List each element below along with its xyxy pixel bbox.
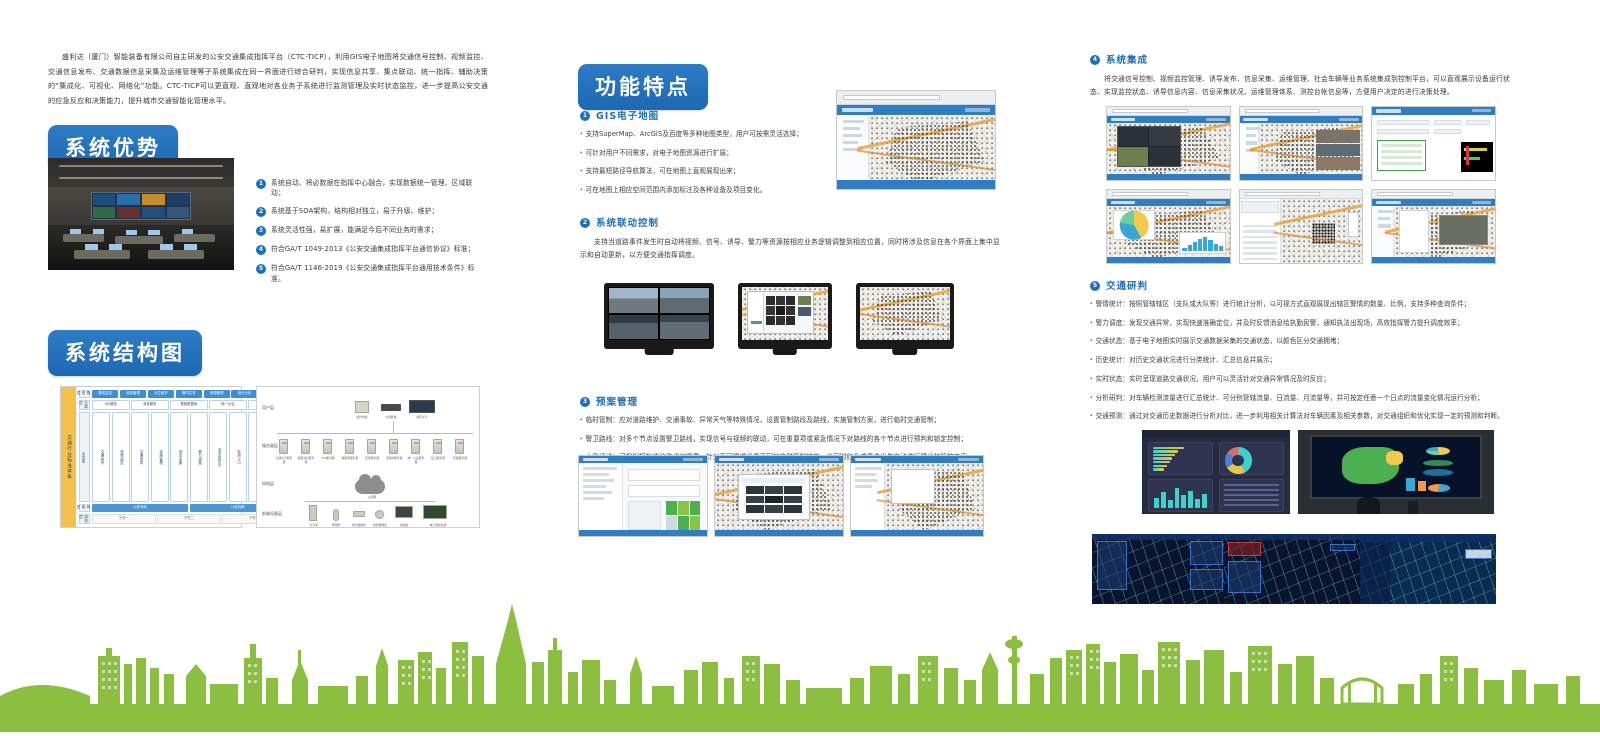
server-caption: 交通信号服务器 [275,456,293,464]
topology-diagram: 用户层 服务器层 网络层 前端设备层 操作终端 大屏终端 指挥大厅 交通信号服务… [256,386,480,528]
panel-data-table [1219,479,1284,513]
monitor-screen [860,287,950,340]
terminal-caption: 操作终端 [353,415,371,419]
console-icon [381,404,401,411]
analysis-bullet: 警情统计：按照管辖辖区（支队或大队等）进行统计分析，以可视方式直观展现出辖区警情… [1090,299,1522,309]
section-header: 5 交通研判 [1090,278,1522,292]
section-paragraph: 将交通信号控制、视频监控管理、诱导发布、信息采集、运维管理、社会车辆等业务系统集… [1090,73,1510,100]
integration-screenshot-grid [1106,106,1496,264]
server-caption: 应用服务器 [363,456,381,460]
feature-bullet: 临时管制：应对道路维护、交通事故、异常天气等特殊情况，设置管制路段及路线，实施管… [580,415,992,425]
plan-screenshot-3 [850,455,984,537]
monitor-intersection-control [738,283,832,349]
control-room-photo [48,158,234,270]
dashboard-navbar [1142,430,1290,438]
server-caption: 接口服务器 [429,456,447,460]
list-item: 4 符合GA/T 1049-2013《公安交通集成指挥平台通信协议》标准； [256,244,486,255]
integration-screenshot-6 [1371,189,1496,264]
feature-bullet: 可在地图上相应空间范围内添加标注及各种设备及项目变化。 [580,185,825,195]
arch-cell: 基础数据库 [170,400,208,410]
server-caption: 视频监控服务器 [297,456,315,464]
arch-row-support: 支撑层 GIS服务 消息服务 基础数据库 统一认证 日志审计 [79,400,286,410]
analysis-bullet: 交通状态：基于电子地图实时展示交通数据采集的交通状态，以颜色区分交通拥堵； [1090,336,1522,346]
feature-bullet: 支持最短路径导航算法，可在地图上直观展现出来； [580,166,825,176]
advantage-text: 系统基于SOA架构，结构相对独立，易于升级、维护； [271,206,438,217]
gis-map-screenshot [836,90,996,190]
analysis-bullet: 警力调度：发现交通异常，实现快速准确定位，并及时反馈消息给执勤民警，通知执法出现… [1090,318,1522,328]
section-title: GIS电子地图 [596,108,659,122]
analytics-dashboard [1142,430,1290,514]
arch-row-label: 支撑层 [79,400,90,410]
list-item: 5 符合GA/T 1146-2019《公安交通集成指挥平台通用技术条件》标准。 [256,263,486,283]
workstation-icon [355,401,369,413]
integration-screenshot-3 [1371,106,1496,181]
server-caption: 存储服务器 [451,456,469,460]
server-caption: 统一认证服务器 [407,456,425,464]
features-heading: 功能特点 [578,64,708,110]
arch-cell: 警力调度 [190,412,208,502]
map-markers [869,116,995,190]
section-header: 2 系统联动控制 [580,215,1000,229]
advantage-text: 系统自动、将必数据在指挥中心融合，实现数据统一管理、区域联动； [271,178,486,198]
analysis-bullet: 分析研判：对车辆检测流量进行汇总统计、可分别管辖流量、日流量、月流量等，并可按定… [1090,393,1522,403]
arch-cell: 检测卡口 [229,412,247,502]
arch-row-label: 感知层 [79,514,90,524]
vms-board-icon [395,506,413,518]
device-caption: 球型摄像机 [371,523,389,527]
arch-row-label: 业务层 [79,412,90,502]
panel-donut [1219,442,1284,476]
server-caption: 数据库服务器 [341,456,359,460]
brochure-page: 盛利达（厦门）智能装备有限公司自主研发的公安交通集成指挥平台（CTC-TICP）… [0,0,1600,732]
feature-bullet: 支持SuperMap、ArcGIS及百度等多种地图类型，用户可按需灵活选择； [580,129,825,139]
cabinet-icon [309,505,317,521]
arch-cell: 资源管理 [204,390,230,398]
traffic-command-dashboard-3 [1360,534,1496,604]
traffic-command-dashboard-1 [1092,534,1228,604]
enforcement-system-icon [423,505,447,519]
feature-section-linkage: 2 系统联动控制 支持当道路事件发生时自动将视频、信号、诱导、警力等资源按相应业… [580,215,1000,262]
device-caption: 信号机 [305,523,323,527]
architecture-diagram: 交通行业标准体系 展现层 集成监控 信息管理 点位维护 警内共享 资源管理 统计… [60,386,242,528]
plan-screenshot-2 [714,455,844,537]
arch-row-presentation: 展现层 集成监控 信息管理 点位维护 警内共享 资源管理 统计分析 权限管理 [79,390,286,398]
structure-heading-wrap: 系统结构图 [48,330,202,376]
monitor-map [856,283,954,349]
list-item: 2 系统基于SOA架构，结构相对独立，易于升级、维护； [256,206,486,217]
topology-layer-label: 前端设备层 [262,511,282,517]
bullet-camera-icon [353,511,365,517]
panel-vertical-bars [1148,479,1213,513]
section-header: 4 系统集成 [1090,52,1510,66]
analysis-bullet: 实时状态：实时呈现道路交通状况，用户可以灵活针对交通异常情况及时反应； [1090,374,1522,384]
integration-screenshot-4 [1106,189,1231,264]
section-title: 交通研判 [1106,278,1148,292]
city-skyline-footer [0,600,1600,732]
browser-chrome [837,91,995,105]
device-caption: 枪式摄像机 [350,523,368,527]
network-caption: 公安网 [361,495,383,499]
arch-cell: GIS服务 [92,400,130,410]
badge-number: 4 [1090,55,1100,65]
network-cloud-icon [355,479,385,494]
feature-section-gis: 1 GIS电子地图 支持SuperMap、ArcGIS及百度等多种地图类型，用户… [580,108,825,204]
section-header: 3 预案管理 [580,394,992,408]
monitor-cctv [604,283,714,349]
integration-screenshot-2 [1239,106,1364,181]
dome-camera-icon [375,510,384,519]
arch-cell: 子项一 [92,514,156,524]
integration-screenshot-1 [1106,106,1231,181]
section-paragraph: 支持当道路事件发生时自动将视频、信号、诱导、警力等资源按相应业务逻辑调整到相应位… [580,236,1000,262]
analysis-bullet: 历史统计：对历史交通状况进行分类统计、汇总信息并展示； [1090,355,1522,365]
topology-layer-label: 服务器层 [262,443,278,449]
terminal-caption: 指挥大厅 [413,415,431,419]
device-caption: 电子警察系统 [425,523,451,527]
left-column: 盛利达（厦门）智能装备有限公司自主研发的公安交通集成指挥平台（CTC-TICP）… [48,50,488,108]
advantages-list: 1 系统自动、将必数据在指挥中心融合，实现数据统一管理、区域联动； 2 系统基于… [256,178,486,292]
badge-number: 4 [256,245,266,255]
videowall-icon [409,400,435,413]
feature-bullet: 警卫路线：对多个节点设置警卫路线，实现信号与视频的联动，可在重要项或紧急情况下对… [580,434,992,444]
section-title: 系统联动控制 [596,215,659,229]
feature-bullet: 可针对用户不同需求，对电子地图资源进行扩展； [580,148,825,158]
device-caption: 情报板 [395,523,413,527]
list-item: 1 系统自动、将必数据在指挥中心融合，实现数据统一管理、区域联动； [256,178,486,198]
badge-number: 1 [580,111,590,121]
traffic-command-dashboard-2 [1224,534,1360,604]
arch-cell: 交通诱导 [131,412,149,502]
feature-section-analysis: 5 交通研判 警情统计：按照管辖辖区（支队或大队等）进行统计分析，以可视方式直观… [1090,278,1522,430]
arch-cell: 公安专网 [92,504,188,512]
terminal-caption: 大屏终端 [382,415,400,419]
badge-number: 5 [256,264,266,274]
features-heading-wrap: 功能特点 [578,64,708,110]
intro-paragraph: 盛利达（厦门）智能装备有限公司自主研发的公安交通集成指挥平台（CTC-TICP）… [48,50,488,108]
badge-number: 3 [256,226,266,236]
badge-number: 5 [1090,281,1100,291]
server-caption: GIS服务器 [319,456,337,460]
integration-screenshot-5 [1239,189,1364,264]
analysis-bullet: 交通预测：通过对交通历史数据进行分析对比，进一步利用相关计算法对车辆因素及相关参… [1090,411,1522,421]
badge-number: 2 [580,218,590,228]
advantage-text: 系统灵活性强，易扩展，能满足今后不同业务的需求； [271,225,438,236]
arch-cell: 点位维护 [148,390,174,398]
device-caption: 诱导屏 [327,523,345,527]
arch-side-label-left: 交通行业标准体系 [61,387,76,527]
arch-cell: 非现场执法 [209,412,227,502]
plan-screenshot-1 [578,455,708,537]
arch-cell: 交通信号 [92,412,110,502]
monitor-screen [742,287,828,340]
skyline-graphic [0,600,1600,732]
structure-heading: 系统结构图 [48,330,202,376]
arch-cell: 信息管理 [120,390,146,398]
arch-row-label: 展现层 [79,390,90,398]
arch-row-sensing: 感知层 子项一 子项二 子项三 [79,514,286,524]
arch-cell: 集成监控 [92,390,118,398]
arch-row-network: 网络层 公安专网 公安内网 [79,504,286,512]
arch-cell: 违法采集 [170,412,188,502]
video-wall [91,192,191,220]
list-item: 3 系统灵活性强，易扩展，能满足今后不同业务的需求； [256,225,486,236]
app-header-bar [837,105,995,116]
arch-cell: 设施管理 [151,412,169,502]
advantage-text: 符合GA/T 1049-2013《公安交通集成指挥平台通信协议》标准； [271,244,475,255]
bollard-icon [333,509,339,521]
feature-section-integration: 4 系统集成 将交通信号控制、视频监控管理、诱导发布、信息采集、运维管理、社会车… [1090,52,1510,100]
badge-number: 3 [580,397,590,407]
arch-row-label: 网络层 [79,504,90,512]
section-header: 1 GIS电子地图 [580,108,825,122]
arch-row-business: 业务层 交通信号 视频监控 交通诱导 设施管理 违法采集 警力调度 非现场执法 … [79,412,286,502]
arch-cell: 警内共享 [176,390,202,398]
topology-layer-label: 用户层 [262,405,274,411]
monitor-screen [608,287,710,340]
arch-cell: 视频监控 [112,412,130,502]
status-bar [837,180,995,189]
arch-cell: 统计分析 [231,390,257,398]
arch-cell: 子项二 [157,514,221,524]
advantage-text: 符合GA/T 1146-2019《公安交通集成指挥平台通用技术条件》标准。 [271,263,486,283]
badge-number: 2 [256,207,266,217]
server-caption: 流媒体服务器 [385,456,403,460]
arch-cell: 消息服务 [131,400,169,410]
command-center-photo [1298,430,1494,514]
topology-layer-label: 网络层 [262,481,274,487]
badge-number: 1 [256,179,266,189]
map-canvas [869,116,995,190]
arch-cell: 统一认证 [209,400,247,410]
panel-horizontal-bars [1148,442,1213,476]
section-title: 系统集成 [1106,52,1148,66]
section-title: 预案管理 [596,394,638,408]
